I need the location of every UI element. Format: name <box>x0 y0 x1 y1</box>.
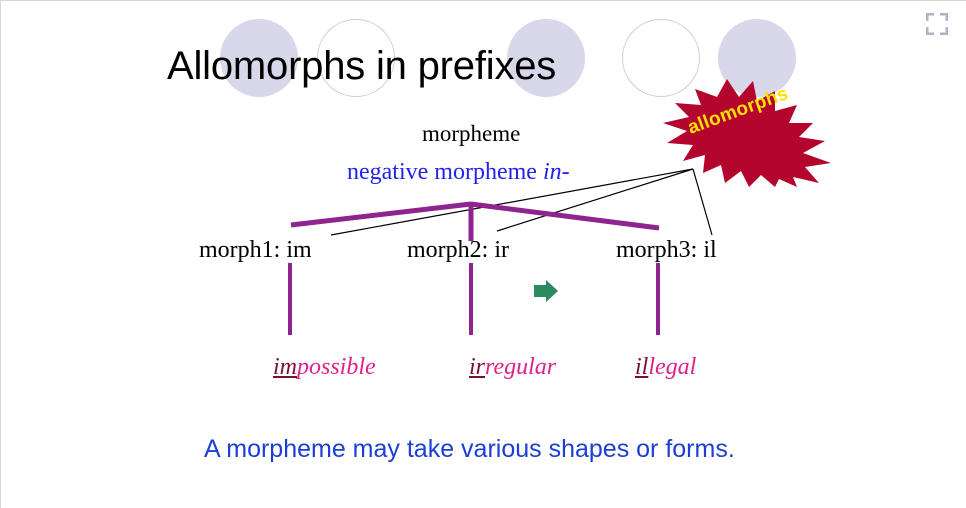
example-word-irregular: irregular <box>469 354 556 381</box>
word-prefix-il: il <box>635 354 648 380</box>
green-right-arrow-icon <box>534 280 558 302</box>
morph3-label: morph3: il <box>616 237 717 264</box>
word-rest-regular: regular <box>485 354 556 380</box>
word-prefix-ir: ir <box>469 354 485 380</box>
morph2-label: morph2: ir <box>407 237 509 264</box>
fullscreen-expand-icon[interactable] <box>926 13 948 35</box>
word-rest-possible: possible <box>297 354 376 380</box>
root-morpheme-label: morpheme <box>422 121 520 147</box>
tree-branches <box>291 202 659 241</box>
starburst-callout-shape <box>661 79 831 187</box>
negative-morpheme-italic: in- <box>543 159 570 185</box>
example-word-illegal: illegal <box>635 354 696 381</box>
branch-right <box>471 204 659 228</box>
negative-morpheme-label: negative morpheme in- <box>347 159 570 186</box>
morph1-label: morph1: im <box>199 237 312 264</box>
word-rest-legal: legal <box>648 354 696 380</box>
slide-caption: A morpheme may take various shapes or fo… <box>204 435 735 464</box>
word-prefix-im: im <box>273 354 297 380</box>
example-word-impossible: impossible <box>273 354 376 381</box>
slide-canvas: Allomorphs in prefixes morpheme negative… <box>0 0 966 508</box>
negative-morpheme-text: negative morpheme <box>347 159 543 185</box>
word-connectors <box>290 263 658 335</box>
